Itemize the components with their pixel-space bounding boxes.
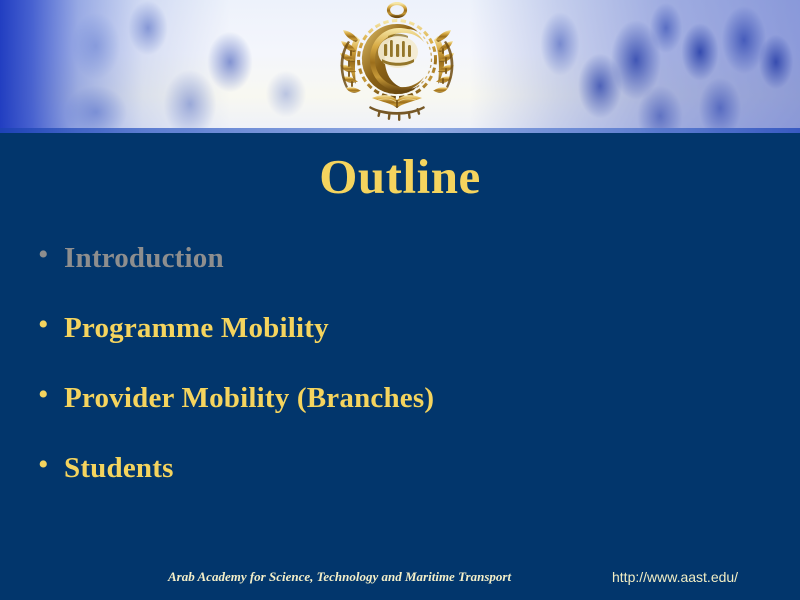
presentation-slide: Outline • Introduction • Programme Mobil… <box>0 0 800 600</box>
outline-item-students: Students <box>64 454 174 483</box>
list-item[interactable]: • Provider Mobility (Branches) <box>38 383 778 453</box>
bullet-dot-icon: • <box>38 240 64 270</box>
bullet-dot-icon: • <box>38 450 64 480</box>
outline-item-provider-mobility: Provider Mobility (Branches) <box>64 384 434 413</box>
banner-left-blue-wash <box>0 0 230 133</box>
list-item[interactable]: • Programme Mobility <box>38 313 778 383</box>
footer-website-url[interactable]: http://www.aast.edu/ <box>612 569 738 585</box>
list-item[interactable]: • Introduction <box>38 243 778 313</box>
outline-item-introduction: Introduction <box>64 244 224 273</box>
bullet-dot-icon: • <box>38 310 64 340</box>
footer-organization-name: Arab Academy for Science, Technology and… <box>168 569 511 585</box>
slide-title: Outline <box>0 152 800 201</box>
banner-right-blue-wash <box>470 0 800 133</box>
banner-bottom-accent-line <box>0 128 800 133</box>
outline-list: • Introduction • Programme Mobility • Pr… <box>38 243 778 523</box>
bullet-dot-icon: • <box>38 380 64 410</box>
aast-emblem-logo-icon <box>332 2 462 128</box>
outline-item-programme-mobility: Programme Mobility <box>64 314 329 343</box>
list-item[interactable]: • Students <box>38 453 778 523</box>
